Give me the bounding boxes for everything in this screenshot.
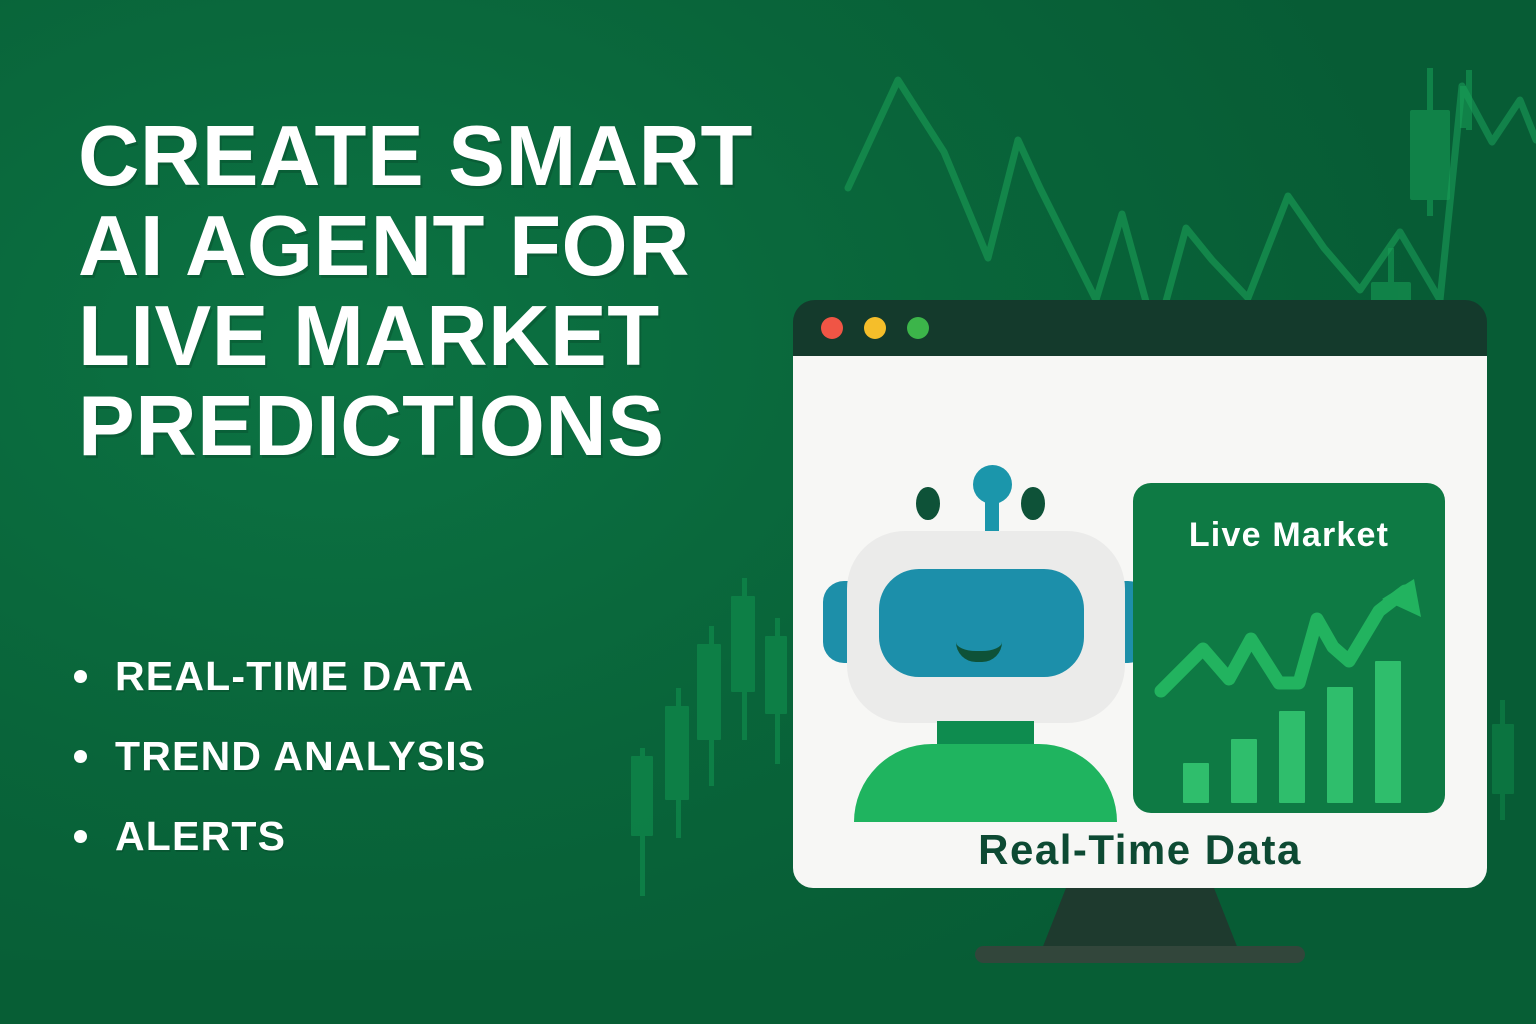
monitor-stand <box>1040 888 1240 954</box>
bullet-dot-icon <box>74 830 87 843</box>
maximize-icon[interactable] <box>907 317 929 339</box>
list-item-label: Alerts <box>115 813 286 860</box>
bullet-dot-icon <box>74 750 87 763</box>
list-item: Real-Time Data <box>74 636 714 716</box>
bar-4 <box>1327 687 1353 803</box>
background-candlesticks-right <box>1492 700 1514 820</box>
browser-titlebar <box>793 300 1487 356</box>
live-market-panel[interactable]: Live Market <box>1133 483 1445 813</box>
screen-caption: Real-Time Data <box>793 826 1487 874</box>
monitor-stand-base <box>975 946 1305 963</box>
robot-mascot-icon <box>821 456 1151 826</box>
robot-eye-right-icon <box>1021 487 1045 520</box>
bar-1 <box>1183 763 1209 803</box>
bar-2 <box>1231 739 1257 803</box>
close-icon[interactable] <box>821 317 843 339</box>
list-item-label: Trend Analysis <box>115 733 486 780</box>
trend-line <box>1161 591 1405 691</box>
bar-3 <box>1279 711 1305 803</box>
list-item: Alerts <box>74 796 714 876</box>
bullet-dot-icon <box>74 670 87 683</box>
feature-list: Real-Time Data Trend Analysis Alerts <box>74 636 714 876</box>
bar-5 <box>1375 661 1401 803</box>
floor-band <box>0 960 1536 1024</box>
robot-neck-icon <box>937 721 1034 746</box>
robot-eye-left-icon <box>916 487 940 520</box>
poster-canvas: Create Smart AI Agent for Live Market Pr… <box>0 0 1536 1024</box>
monitor-illustration: Live Market Real-Time Data <box>793 300 1487 888</box>
robot-body-icon <box>854 744 1117 822</box>
browser-viewport: Live Market Real-Time Data <box>793 356 1487 888</box>
page-title: Create Smart AI Agent for Live Market Pr… <box>78 112 838 472</box>
minimize-icon[interactable] <box>864 317 886 339</box>
background-line-chart-lower <box>1400 86 1536 300</box>
list-item: Trend Analysis <box>74 716 714 796</box>
live-market-chart <box>1133 483 1445 813</box>
list-item-label: Real-Time Data <box>115 653 474 700</box>
